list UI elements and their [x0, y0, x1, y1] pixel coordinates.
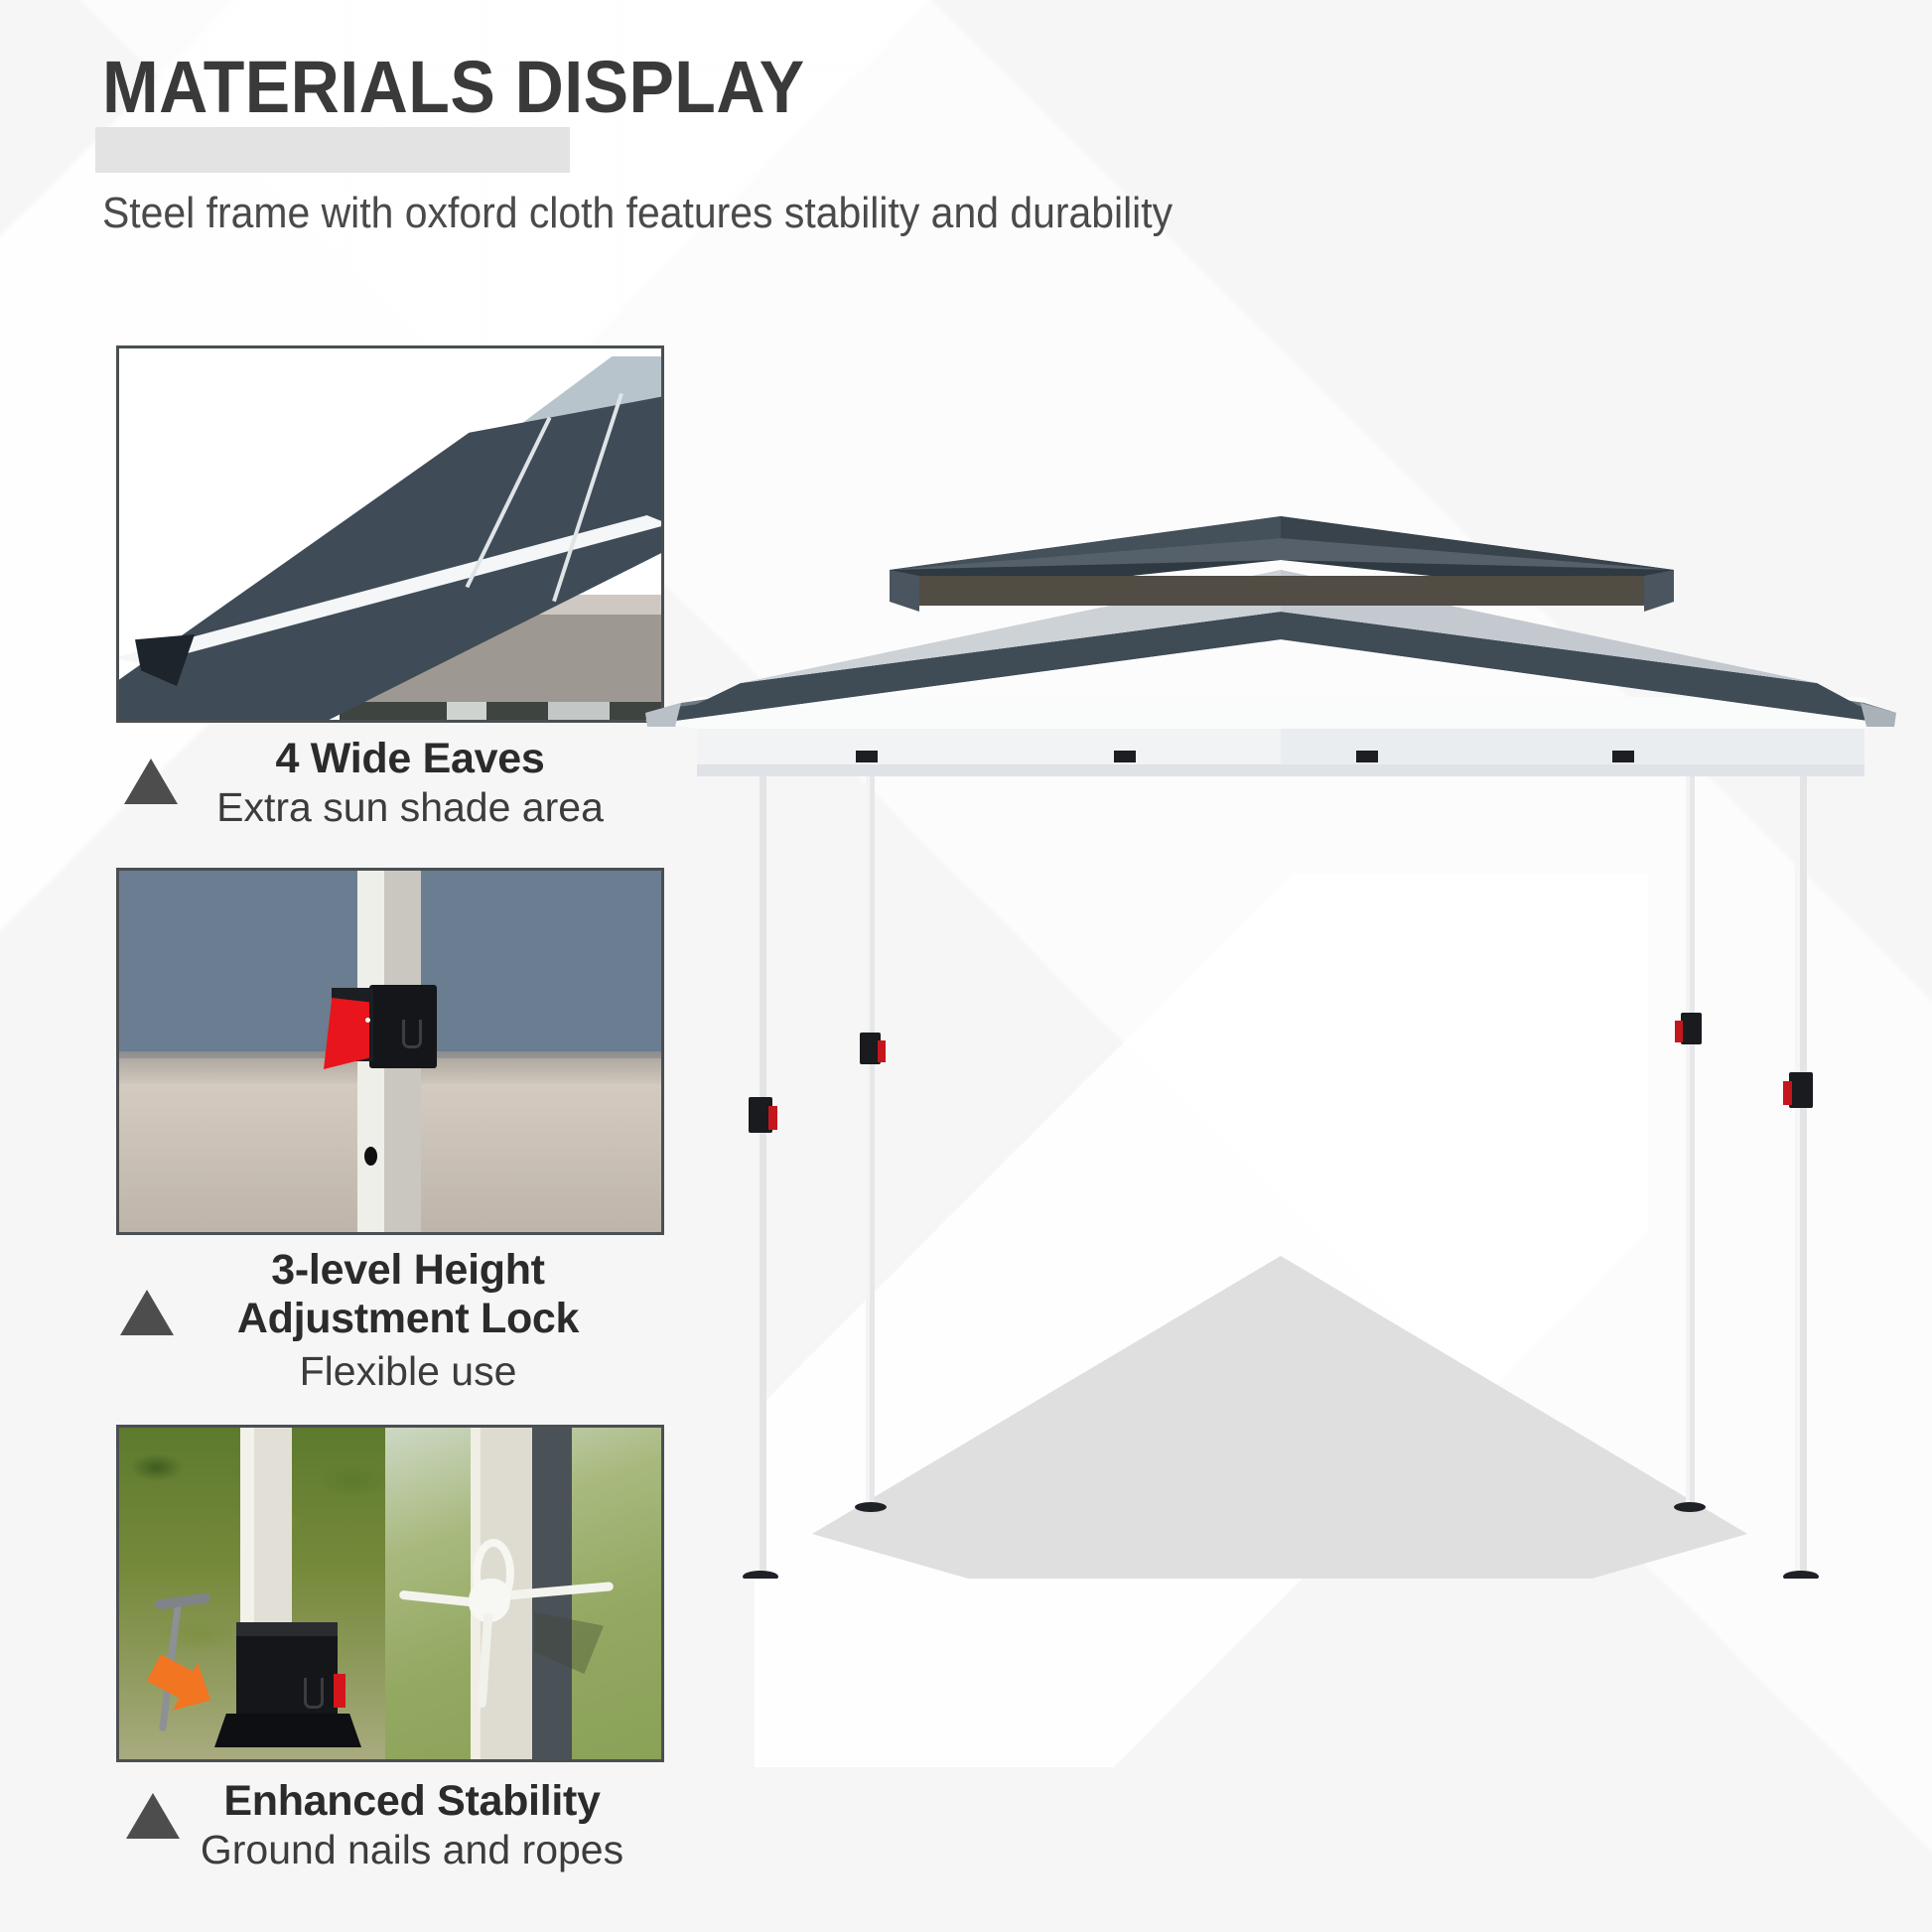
feature-caption-height-lock: 3-level Height Adjustment Lock Flexible …	[116, 1246, 664, 1435]
gazebo-foot-back-right	[1674, 1502, 1706, 1512]
gazebo-lock-lever-back-left	[878, 1040, 886, 1062]
page-title: MATERIALS DISPLAY	[102, 45, 805, 129]
gazebo-vent-base-left-cap	[890, 570, 919, 612]
feature-photo-wide-eaves	[116, 345, 664, 723]
photo3-right-rope-tie	[385, 1428, 664, 1759]
gazebo-valance-bottom-edge	[697, 764, 1864, 776]
gazebo-eave-underside	[645, 697, 1896, 729]
title-highlight-bar	[95, 127, 570, 173]
gazebo-eave-tip-right	[1861, 703, 1896, 727]
feature-subtext: Ground nails and ropes	[116, 1826, 664, 1873]
photo2-lock-screw	[365, 1018, 370, 1023]
gazebo-leg-back-left-highlight	[866, 751, 870, 1505]
gazebo-foot-back-left	[855, 1502, 887, 1512]
feature-caption-wide-eaves: 4 Wide Eaves Extra sun shade area	[116, 735, 664, 854]
gazebo-valance-clip-4	[1612, 751, 1634, 762]
photo3-pole-highlight	[240, 1428, 254, 1652]
photo3-foot-housing	[236, 1624, 338, 1725]
photo1-canopy-wall-shadow	[340, 702, 664, 723]
gazebo-foot-front-left	[743, 1571, 778, 1579]
gazebo-floor-highlight	[812, 1256, 1747, 1579]
photo2-pole-pin-hole	[364, 1147, 377, 1166]
feature-photo-enhanced-stability	[116, 1425, 664, 1762]
gazebo-foot-front-right	[1783, 1571, 1819, 1579]
feature-subtext: Flexible use	[116, 1347, 664, 1395]
photo3-foot-red-lever	[334, 1674, 345, 1708]
gazebo-valance-clip-1	[856, 751, 878, 762]
feature-heading-line2: Adjustment Lock	[116, 1295, 664, 1343]
product-illustration-gazebo	[645, 516, 1896, 1579]
photo3-pole	[248, 1428, 292, 1654]
gazebo-leg-front-right-highlight	[1795, 753, 1800, 1575]
gazebo-lock-front-right	[1789, 1072, 1813, 1108]
gazebo-lock-lever-front-left	[768, 1106, 777, 1130]
photo3-base-plate	[214, 1714, 361, 1747]
feature-photo-height-lock	[116, 868, 664, 1235]
photo3-foot-housing-top	[236, 1622, 338, 1636]
gazebo-valance-clip-2	[1114, 751, 1136, 762]
gazebo-lock-lever-back-right	[1675, 1021, 1683, 1042]
gazebo-vent-mesh	[919, 576, 1644, 606]
photo1-wall-gap-2	[548, 702, 610, 723]
gazebo-lock-back-right	[1681, 1013, 1702, 1044]
gazebo-svg	[645, 516, 1896, 1579]
gazebo-eave-tip-left	[645, 703, 681, 727]
gazebo-valance-clip-3	[1356, 751, 1378, 762]
gazebo-leg-back-right-highlight	[1686, 751, 1690, 1505]
photo1-wall-gap-1	[447, 702, 486, 723]
gazebo-vent-base-right-cap	[1644, 570, 1674, 612]
infographic-canvas: MATERIALS DISPLAY Steel frame with oxfor…	[0, 0, 1932, 1932]
feature-heading-line1: 3-level Height	[116, 1246, 664, 1295]
photo3-foot-slot	[304, 1678, 324, 1709]
triangle-up-icon	[124, 759, 178, 804]
page-subtitle: Steel frame with oxford cloth features s…	[102, 189, 1173, 238]
gazebo-lock-back-left	[860, 1033, 881, 1064]
feature-heading: 4 Wide Eaves	[116, 735, 664, 783]
triangle-up-icon	[120, 1290, 174, 1335]
feature-caption-enhanced-stability: Enhanced Stability Ground nails and rope…	[116, 1777, 664, 1906]
gazebo-lock-lever-front-right	[1783, 1081, 1792, 1105]
triangle-up-icon	[126, 1793, 180, 1839]
photo2-lock-slot	[402, 1020, 422, 1048]
feature-subtext: Extra sun shade area	[116, 783, 664, 831]
photo3-left-ground-stake	[119, 1428, 385, 1759]
gazebo-leg-front-left-highlight	[755, 753, 759, 1575]
feature-heading: Enhanced Stability	[116, 1777, 664, 1826]
